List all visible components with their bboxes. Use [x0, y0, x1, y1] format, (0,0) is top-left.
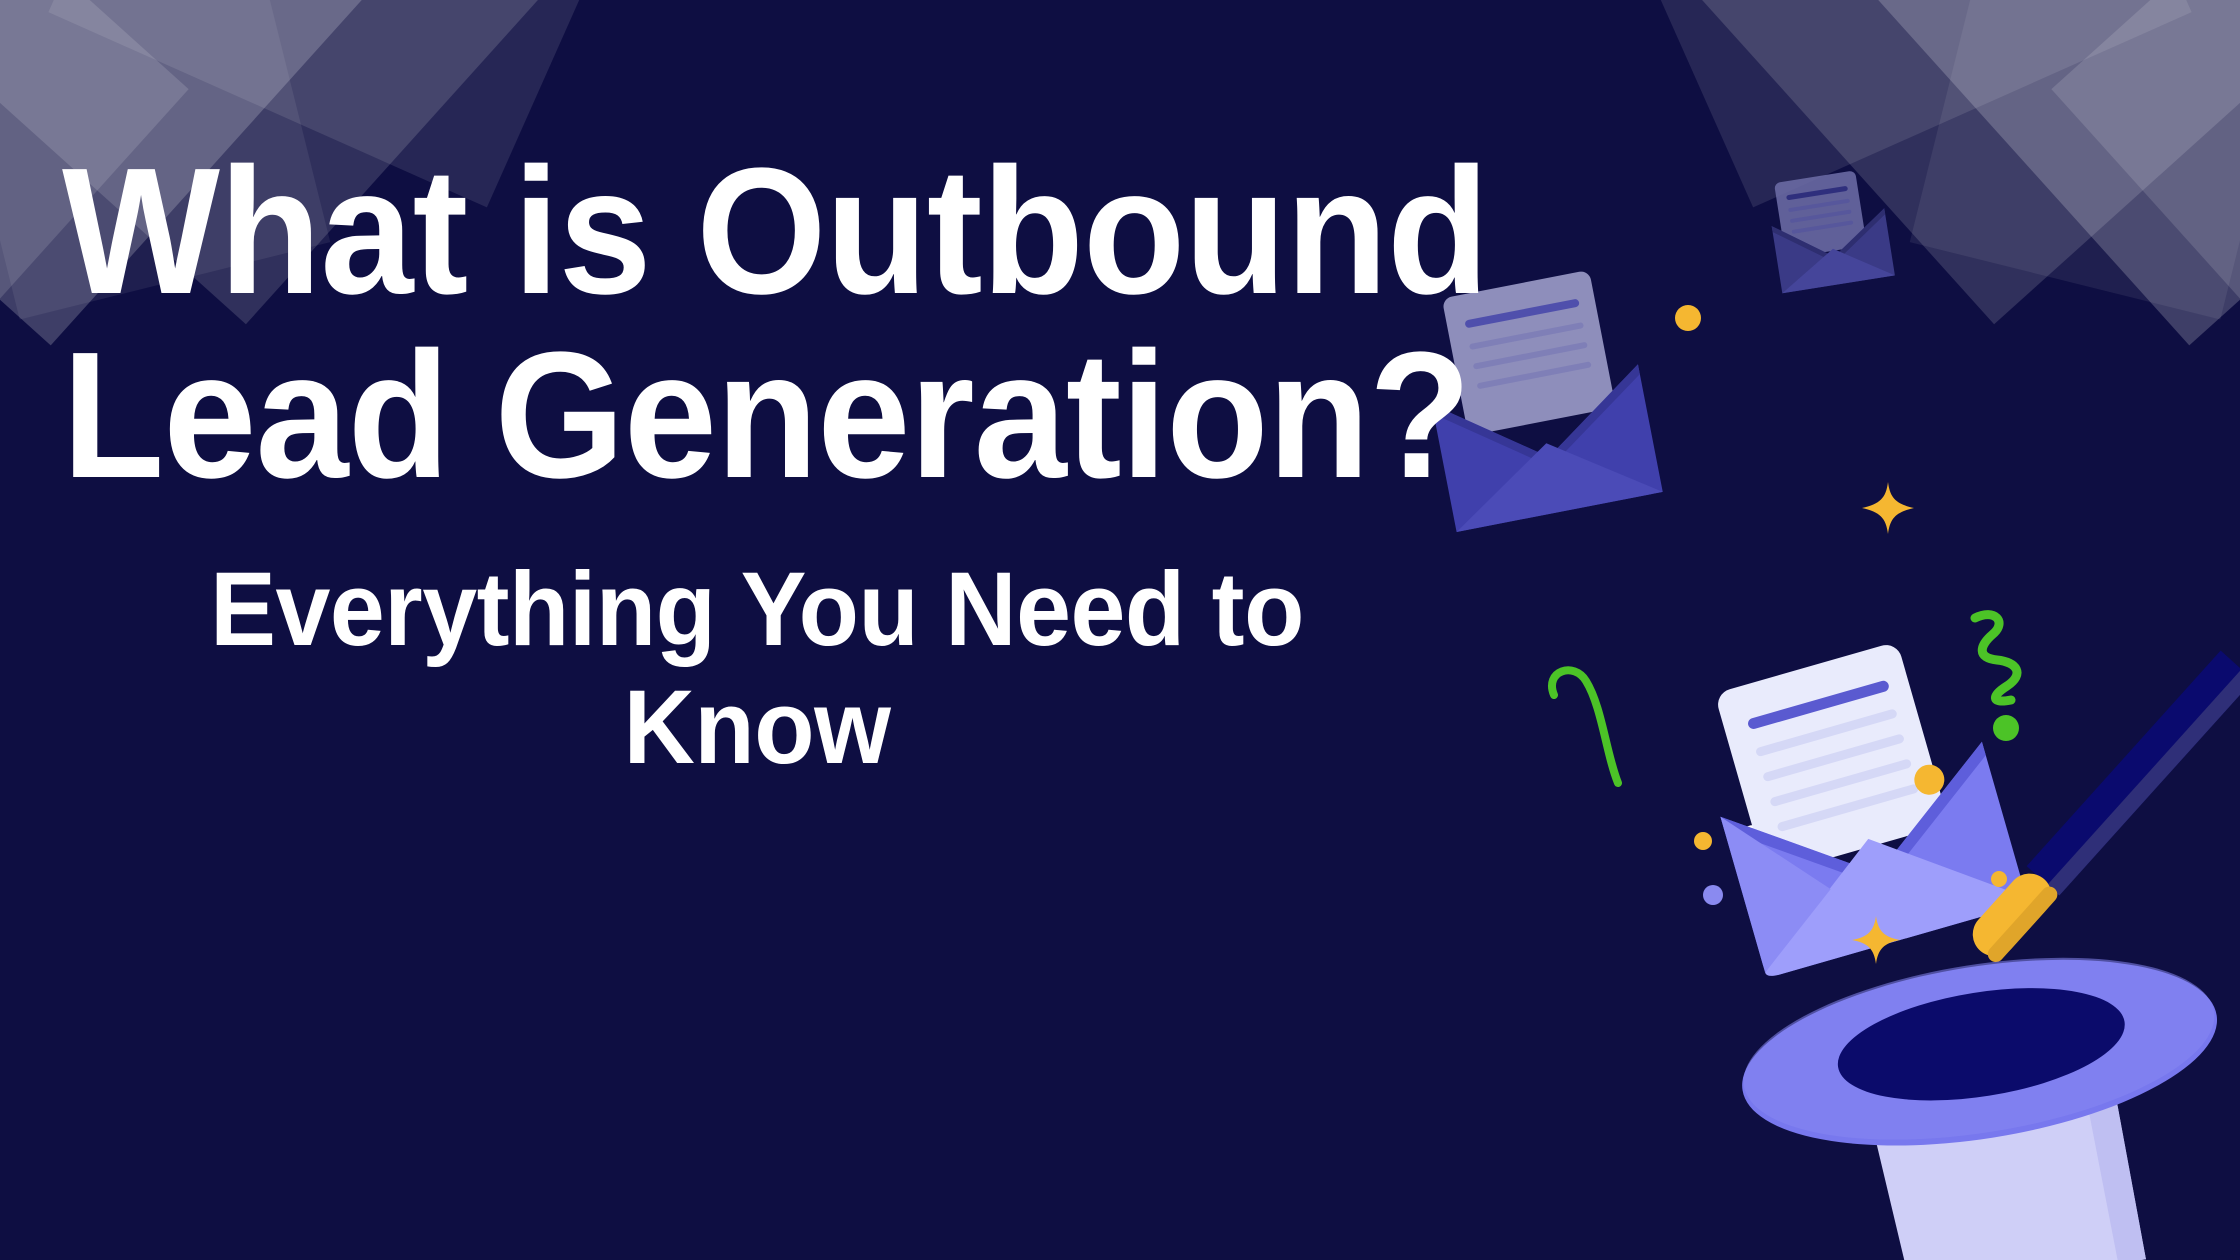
geo-shape-top-right-3	[2051, 0, 2240, 409]
dot-green-icon	[1988, 710, 2024, 746]
page-title: What is Outbound Lead Generation?	[62, 140, 1678, 507]
dot-white-icon	[1730, 820, 1778, 868]
green-squiggle-icon	[1955, 600, 2085, 740]
page-subtitle: Everything You Need to Know	[104, 551, 1411, 786]
dot-periwinkle-icon	[1698, 880, 1728, 910]
banner-canvas: What is Outbound Lead Generation? Everyt…	[0, 0, 2240, 1260]
dot-gold-icon-2	[1690, 828, 1716, 854]
geo-shape-top-right-5	[1910, 0, 2240, 319]
headline-block: What is Outbound Lead Generation? Everyt…	[0, 0, 1800, 786]
dot-gold-icon-3	[1988, 868, 2010, 890]
geo-shape-top-right-1	[1815, 0, 2240, 345]
sparkle-gold-icon-2	[1848, 912, 1904, 968]
magic-wand-icon	[1925, 650, 2240, 990]
sparkle-gold-icon-1	[1858, 478, 1918, 538]
magic-hat-icon	[1690, 955, 2240, 1260]
